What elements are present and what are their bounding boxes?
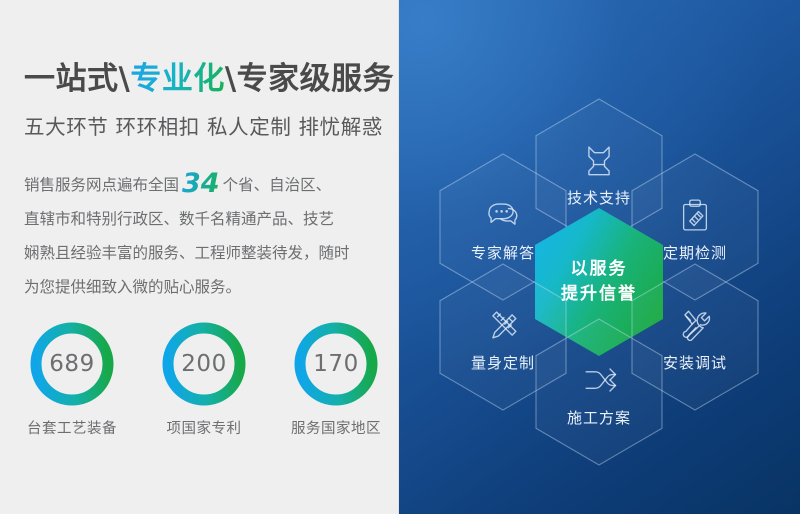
stat-item: 689 台套工艺装备: [18, 322, 126, 438]
headline-part-2: 专家级服务: [237, 61, 395, 97]
hex-label: 安装调试: [663, 352, 727, 373]
stat-label: 台套工艺装备: [18, 417, 126, 438]
stat-item: 170 服务国家地区: [282, 322, 390, 438]
clipboard-icon: [672, 192, 718, 238]
hex-label: 专家解答: [471, 242, 535, 263]
body-line-1-pre: 销售服务网点遍布全国: [24, 176, 179, 194]
stat-value: 170: [294, 322, 378, 406]
headline-part-1: 一站式: [24, 61, 119, 97]
headline-separator-2: \: [225, 61, 237, 97]
hex-label: 定期检测: [663, 242, 727, 263]
hexagon-diagram-panel: 技术支持: [399, 0, 800, 514]
stat-label: 服务国家地区: [282, 417, 390, 438]
body-line-3: 娴熟且经验丰富的服务、工程师整装待发，随时: [24, 244, 350, 262]
hex-cell-construction[interactable]: 施工方案: [535, 318, 663, 466]
page-title: 一站式\专业化\专家级服务: [24, 62, 399, 96]
body-line-4: 为您提供细致入微的贴心服务。: [24, 278, 241, 296]
hex-label: 施工方案: [567, 407, 631, 428]
stat-value: 200: [162, 322, 246, 406]
page-subtitle: 五大环节 环环相扣 私人定制 排忧解惑: [24, 110, 399, 140]
stat-ring: 170: [294, 322, 378, 406]
body-line-1-post: 个省、自治区、: [223, 176, 332, 194]
body-paragraph: 销售服务网点遍布全国34个省、自治区、 直辖市和特别行政区、数千名精通产品、技艺…: [24, 167, 384, 304]
shuffle-arrows-icon: [576, 357, 622, 403]
center-label-line-2: 提升信誉: [561, 282, 637, 307]
hexagon-stage: 技术支持: [399, 0, 800, 514]
body-highlight-number: 34: [179, 168, 223, 199]
stats-row: 689 台套工艺装备: [18, 322, 390, 438]
wrench-head-icon: [576, 137, 622, 183]
hex-label: 技术支持: [567, 187, 631, 208]
body-line-2: 直辖市和特别行政区、数千名精通产品、技艺: [24, 210, 334, 228]
stat-label: 项国家专利: [150, 417, 258, 438]
stat-ring: 200: [162, 322, 246, 406]
stat-item: 200 项国家专利: [150, 322, 258, 438]
stat-ring: 689: [30, 322, 114, 406]
hex-label: 量身定制: [471, 352, 535, 373]
left-info-panel: 一站式\专业化\专家级服务 五大环节 环环相扣 私人定制 排忧解惑 销售服务网点…: [0, 0, 399, 514]
speech-bubbles-icon: [480, 192, 526, 238]
headline-highlight: 专业化: [130, 61, 225, 97]
pencil-ruler-icon: [480, 302, 526, 348]
stat-value: 689: [30, 322, 114, 406]
screwdriver-wrench-icon: [672, 302, 718, 348]
center-label-line-1: 以服务: [571, 257, 628, 282]
promo-banner: 一站式\专业化\专家级服务 五大环节 环环相扣 私人定制 排忧解惑 销售服务网点…: [0, 0, 800, 514]
headline-separator-1: \: [119, 61, 131, 97]
